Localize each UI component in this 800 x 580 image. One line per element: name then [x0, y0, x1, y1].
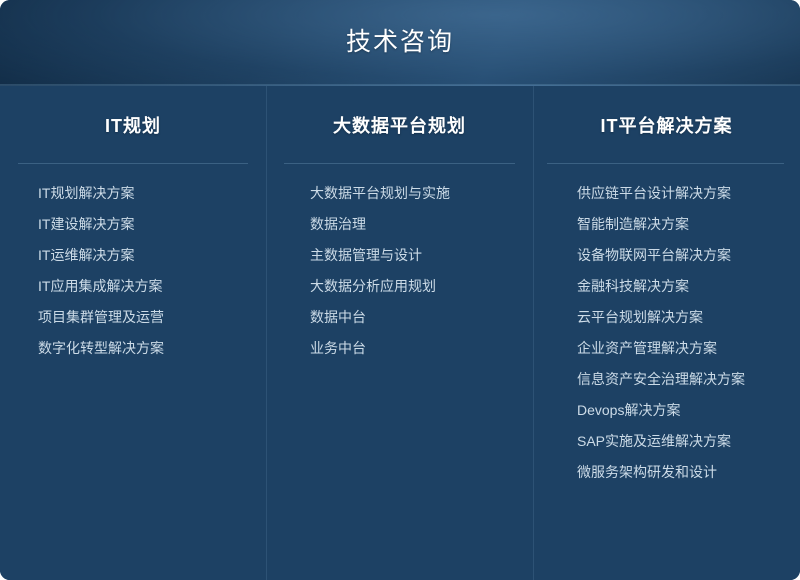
list-item[interactable]: 业务中台	[310, 341, 533, 355]
column-item-list: 供应链平台设计解决方案 智能制造解决方案 设备物联网平台解决方案 金融科技解决方…	[533, 164, 800, 479]
list-item[interactable]: 大数据分析应用规划	[310, 279, 533, 293]
list-item[interactable]: 信息资产安全治理解决方案	[577, 372, 800, 386]
list-item[interactable]: 主数据管理与设计	[310, 248, 533, 262]
list-item[interactable]: IT规划解决方案	[38, 186, 266, 200]
list-item[interactable]: 金融科技解决方案	[577, 279, 800, 293]
list-item[interactable]: 设备物联网平台解决方案	[577, 248, 800, 262]
list-item[interactable]: IT运维解决方案	[38, 248, 266, 262]
column-title: 大数据平台规划	[266, 106, 533, 138]
list-item[interactable]: Devops解决方案	[577, 403, 800, 417]
column-item-list: 大数据平台规划与实施 数据治理 主数据管理与设计 大数据分析应用规划 数据中台 …	[266, 164, 533, 355]
columns-container: IT规划 IT规划解决方案 IT建设解决方案 IT运维解决方案 IT应用集成解决…	[0, 86, 800, 580]
list-item[interactable]: 智能制造解决方案	[577, 217, 800, 231]
list-item[interactable]: 数字化转型解决方案	[38, 341, 266, 355]
list-item[interactable]: SAP实施及运维解决方案	[577, 434, 800, 448]
column-it-planning: IT规划 IT规划解决方案 IT建设解决方案 IT运维解决方案 IT应用集成解决…	[0, 86, 266, 580]
column-title: IT规划	[0, 106, 266, 138]
list-item[interactable]: IT应用集成解决方案	[38, 279, 266, 293]
list-item[interactable]: 大数据平台规划与实施	[310, 186, 533, 200]
tech-consulting-panel: 技术咨询 IT规划 IT规划解决方案 IT建设解决方案 IT运维解决方案 IT应…	[0, 0, 800, 580]
column-it-platform-solutions: IT平台解决方案 供应链平台设计解决方案 智能制造解决方案 设备物联网平台解决方…	[533, 86, 800, 580]
column-title: IT平台解决方案	[533, 106, 800, 138]
list-item[interactable]: 项目集群管理及运营	[38, 310, 266, 324]
page-title: 技术咨询	[346, 30, 454, 55]
list-item[interactable]: IT建设解决方案	[38, 217, 266, 231]
panel-header: 技术咨询	[0, 0, 800, 86]
list-item[interactable]: 数据治理	[310, 217, 533, 231]
list-item[interactable]: 数据中台	[310, 310, 533, 324]
list-item[interactable]: 企业资产管理解决方案	[577, 341, 800, 355]
list-item[interactable]: 云平台规划解决方案	[577, 310, 800, 324]
column-bigdata-platform-planning: 大数据平台规划 大数据平台规划与实施 数据治理 主数据管理与设计 大数据分析应用…	[266, 86, 533, 580]
list-item[interactable]: 微服务架构研发和设计	[577, 465, 800, 479]
list-item[interactable]: 供应链平台设计解决方案	[577, 186, 800, 200]
column-item-list: IT规划解决方案 IT建设解决方案 IT运维解决方案 IT应用集成解决方案 项目…	[0, 164, 266, 355]
